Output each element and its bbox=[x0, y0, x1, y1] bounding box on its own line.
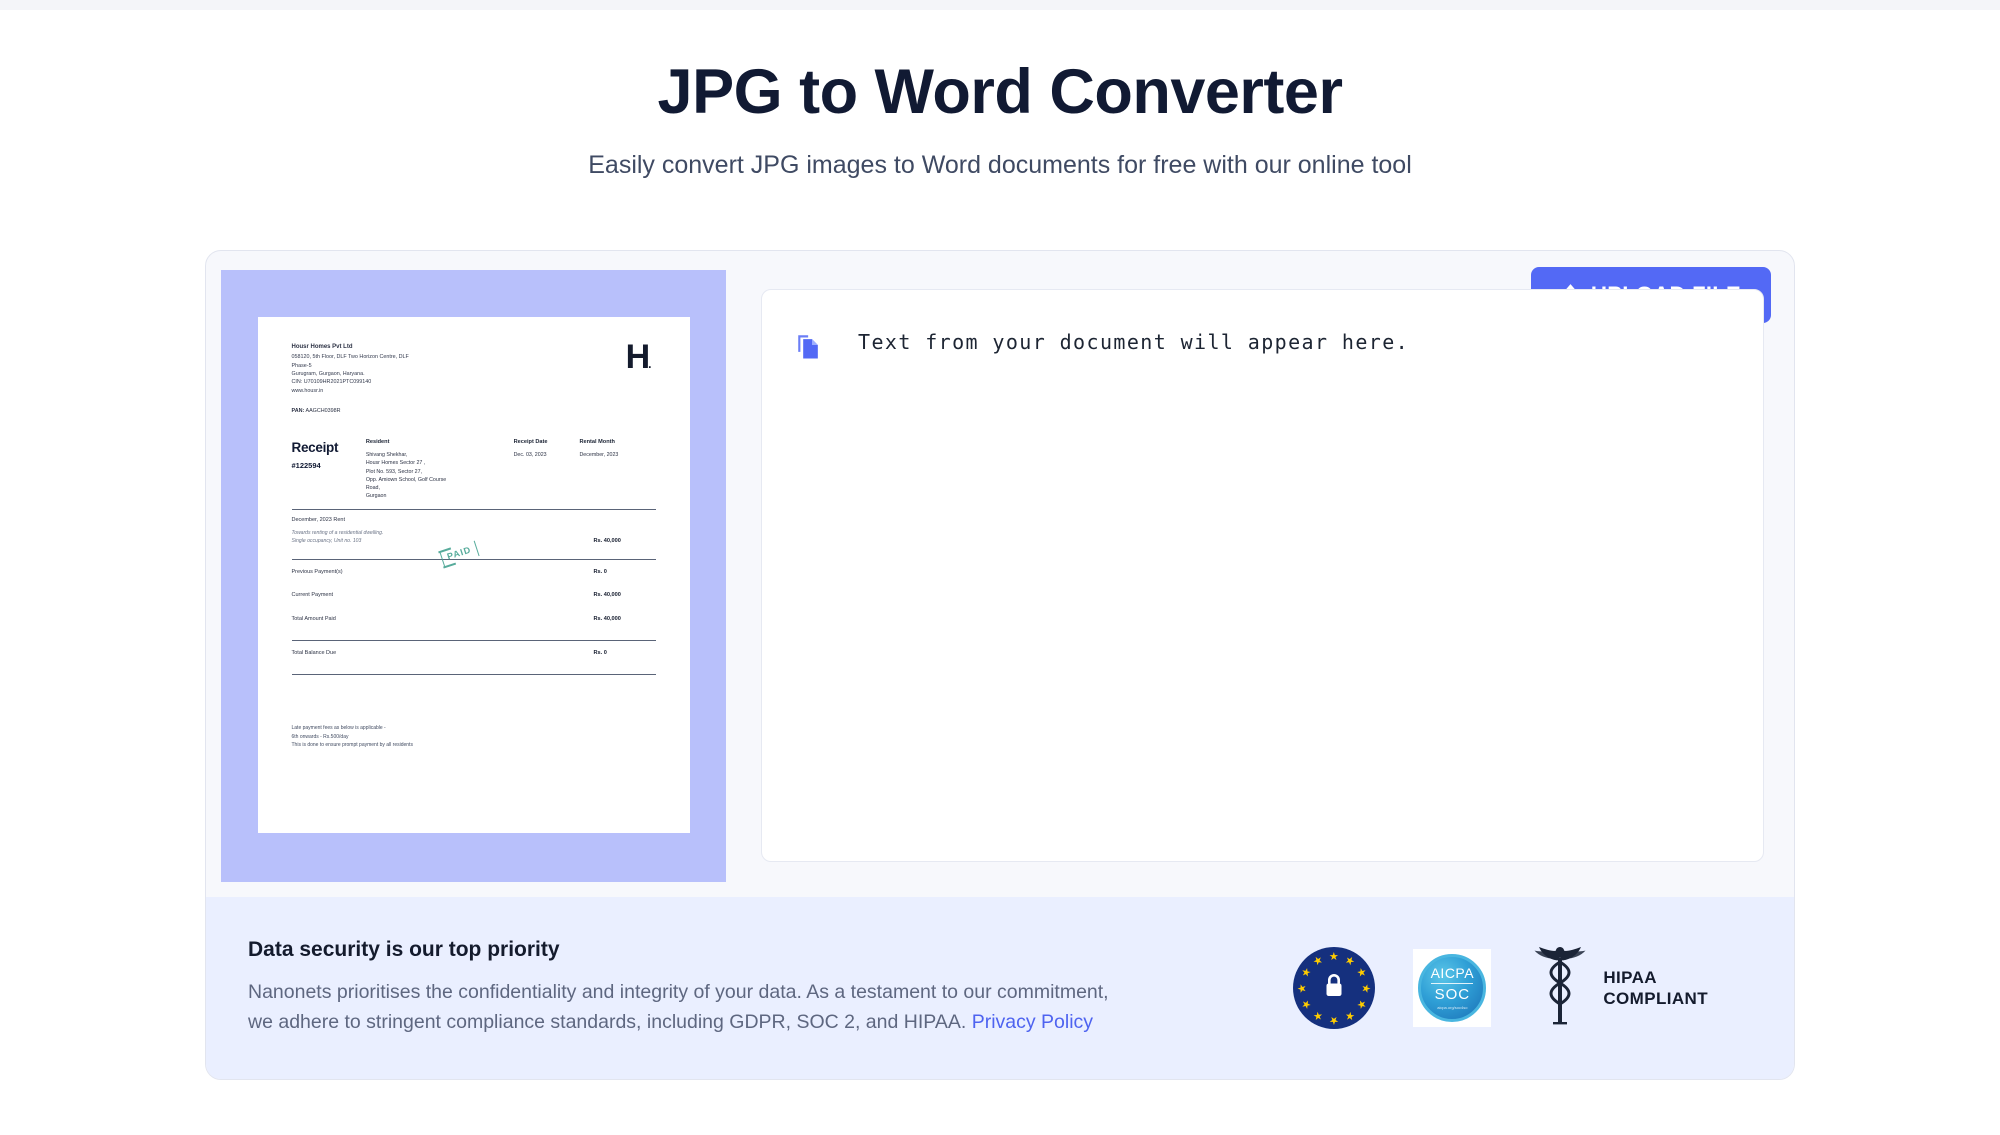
eu-star: ★ bbox=[1353, 965, 1367, 979]
housr-logo: H. bbox=[626, 343, 650, 372]
housr-logo-dot: . bbox=[648, 357, 649, 371]
company-address-line: Gurugram, Gurgaon, Haryana. bbox=[292, 370, 409, 378]
rental-month-value: December, 2023 bbox=[579, 451, 655, 459]
resident-line: Gurgaon bbox=[366, 492, 514, 500]
eu-star: ★ bbox=[1311, 954, 1325, 968]
receipt-date-col: Receipt Date Dec. 03, 2023 bbox=[514, 438, 580, 501]
resident-line: Plot No. 593, Sector 27, bbox=[366, 468, 514, 476]
output-placeholder-text: Text from your document will appear here… bbox=[858, 330, 1409, 354]
extracted-text-pane[interactable]: Text from your document will appear here… bbox=[761, 289, 1764, 862]
aicpa-soc-badge-icon: AICPA SOC aicpa.org/soc4so bbox=[1413, 949, 1491, 1027]
payment-row: Total Balance Due Rs. 0 bbox=[292, 641, 656, 665]
payment-label: Previous Payment(s) bbox=[292, 568, 343, 577]
payment-amount: Rs. 40,000 bbox=[594, 591, 656, 600]
security-desc-line2: we adhere to stringent compliance standa… bbox=[248, 1011, 966, 1033]
security-footer: Data security is our top priority Nanone… bbox=[206, 897, 1794, 1079]
security-desc-line1: Nanonets prioritises the confidentiality… bbox=[248, 981, 1109, 1003]
receipt-heading: Receipt bbox=[292, 438, 366, 459]
payment-amount: Rs. 0 bbox=[594, 649, 656, 658]
compliance-badges: ★ ★ ★ ★ ★ ★ ★ ★ ★ ★ ★ ★ bbox=[1293, 944, 1752, 1033]
receipt-document: Housr Homes Pvt Ltd 058120, 5th Floor, D… bbox=[258, 317, 690, 833]
page-root: JPG to Word Converter Easily convert JPG… bbox=[0, 0, 2000, 1135]
company-address-line: 058120, 5th Floor, DLF Two Horizon Centr… bbox=[292, 353, 409, 361]
pan-row: PAN: AAGCH0398R bbox=[292, 407, 656, 415]
payment-row: Current Payment Rs. 40,000 bbox=[292, 584, 656, 608]
eu-star: ★ bbox=[1329, 952, 1339, 963]
hero-section: JPG to Word Converter Easily convert JPG… bbox=[0, 0, 2000, 180]
hipaa-badge-icon: HIPAA COMPLIANT bbox=[1529, 944, 1708, 1033]
payment-row: Total Amount Paid Rs. 40,000 bbox=[292, 608, 656, 632]
top-strip bbox=[0, 0, 2000, 10]
pan-value: AAGCH0398R bbox=[305, 408, 340, 414]
eu-star: ★ bbox=[1329, 1014, 1339, 1025]
eu-star: ★ bbox=[1342, 954, 1356, 968]
aicpa-label: AICPA bbox=[1431, 966, 1474, 980]
payment-amount: Rs. 0 bbox=[594, 568, 656, 577]
company-address-line: CIN: U70109HR2021PTC099140 bbox=[292, 378, 409, 386]
rent-note-line: Single occupancy, Unit no. 103 bbox=[292, 538, 384, 546]
late-fee-line: This is done to ensure prompt payment by… bbox=[292, 741, 413, 749]
housr-logo-letter: H bbox=[626, 338, 649, 376]
receipt-date-header: Receipt Date bbox=[514, 438, 580, 447]
rental-month-header: Rental Month bbox=[579, 438, 655, 447]
payment-row: Previous Payment(s) Rs. 0 bbox=[292, 560, 656, 584]
resident-line: Road, bbox=[366, 484, 514, 492]
receipt-summary-row: Receipt #122594 Resident Shivang Shekhar… bbox=[292, 438, 656, 501]
resident-col: Resident Shivang Shekhar, Housr Homes Se… bbox=[366, 438, 514, 501]
receipt-title-col: Receipt #122594 bbox=[292, 438, 366, 501]
privacy-policy-link[interactable]: Privacy Policy bbox=[972, 1011, 1093, 1033]
eu-star: ★ bbox=[1300, 996, 1314, 1010]
resident-column-header: Resident bbox=[366, 438, 514, 447]
copy-document-icon[interactable] bbox=[796, 334, 822, 367]
caduceus-icon bbox=[1529, 944, 1591, 1033]
security-footer-title: Data security is our top priority bbox=[248, 938, 1109, 962]
receipt-number: #122594 bbox=[292, 460, 366, 472]
late-fee-line: 6th onwards - Rs.500/day bbox=[292, 733, 413, 741]
card-body: Housr Homes Pvt Ltd 058120, 5th Floor, D… bbox=[206, 251, 1794, 899]
eu-star: ★ bbox=[1311, 1008, 1325, 1022]
hipaa-line2: COMPLIANT bbox=[1603, 989, 1708, 1008]
company-block: Housr Homes Pvt Ltd 058120, 5th Floor, D… bbox=[292, 343, 409, 395]
page-subtitle: Easily convert JPG images to Word docume… bbox=[0, 151, 2000, 180]
hipaa-line1: HIPAA bbox=[1603, 968, 1657, 987]
resident-line: Opp. Amiown School, Golf Course bbox=[366, 476, 514, 484]
pan-label: PAN: bbox=[292, 408, 305, 414]
receipt-header: Housr Homes Pvt Ltd 058120, 5th Floor, D… bbox=[292, 343, 656, 395]
rent-title: December, 2023 Rent bbox=[292, 516, 384, 525]
late-fee-note: Late payment fees as below is applicable… bbox=[292, 724, 413, 749]
security-footer-text: Data security is our top priority Nanone… bbox=[248, 938, 1109, 1037]
eu-star: ★ bbox=[1297, 983, 1308, 993]
eu-star: ★ bbox=[1359, 983, 1370, 993]
extracted-text-inner: Text from your document will appear here… bbox=[762, 290, 1763, 407]
hipaa-label: HIPAA COMPLIANT bbox=[1603, 967, 1708, 1010]
aicpa-divider bbox=[1431, 983, 1473, 984]
soc-label: SOC bbox=[1435, 987, 1471, 1002]
company-address-line: www.housr.in bbox=[292, 387, 409, 395]
payment-label: Current Payment bbox=[292, 591, 334, 600]
company-address-line: Phase-5 bbox=[292, 362, 409, 370]
gdpr-badge-icon: ★ ★ ★ ★ ★ ★ ★ ★ ★ ★ ★ ★ bbox=[1293, 947, 1375, 1029]
rental-month-col: Rental Month December, 2023 bbox=[579, 438, 655, 501]
eu-star: ★ bbox=[1300, 965, 1314, 979]
rent-amount: Rs. 40,000 bbox=[594, 537, 656, 546]
payment-label: Total Amount Paid bbox=[292, 615, 336, 624]
lock-icon bbox=[1322, 972, 1346, 1005]
payment-label: Total Balance Due bbox=[292, 649, 337, 658]
security-footer-description: Nanonets prioritises the confidentiality… bbox=[248, 978, 1109, 1037]
resident-line: Housr Homes Sector 27 , bbox=[366, 459, 514, 467]
eu-star: ★ bbox=[1353, 996, 1367, 1010]
rent-desc: December, 2023 Rent Towards renting of a… bbox=[292, 516, 384, 545]
eu-star: ★ bbox=[1342, 1008, 1356, 1022]
converter-card: Housr Homes Pvt Ltd 058120, 5th Floor, D… bbox=[205, 250, 1795, 1080]
resident-line: Shivang Shekhar, bbox=[366, 451, 514, 459]
aicpa-fineprint: aicpa.org/soc4so bbox=[1437, 1005, 1467, 1010]
rent-note-line: Towards renting of a residential dwellin… bbox=[292, 530, 384, 538]
aicpa-soc-circle: AICPA SOC aicpa.org/soc4so bbox=[1418, 954, 1486, 1022]
divider bbox=[292, 674, 656, 675]
payment-amount: Rs. 40,000 bbox=[594, 615, 656, 624]
page-title: JPG to Word Converter bbox=[0, 58, 2000, 127]
receipt-date-value: Dec. 03, 2023 bbox=[514, 451, 580, 459]
company-name: Housr Homes Pvt Ltd bbox=[292, 343, 409, 352]
document-preview-pane[interactable]: Housr Homes Pvt Ltd 058120, 5th Floor, D… bbox=[221, 270, 726, 882]
late-fee-line: Late payment fees as below is applicable… bbox=[292, 724, 413, 732]
